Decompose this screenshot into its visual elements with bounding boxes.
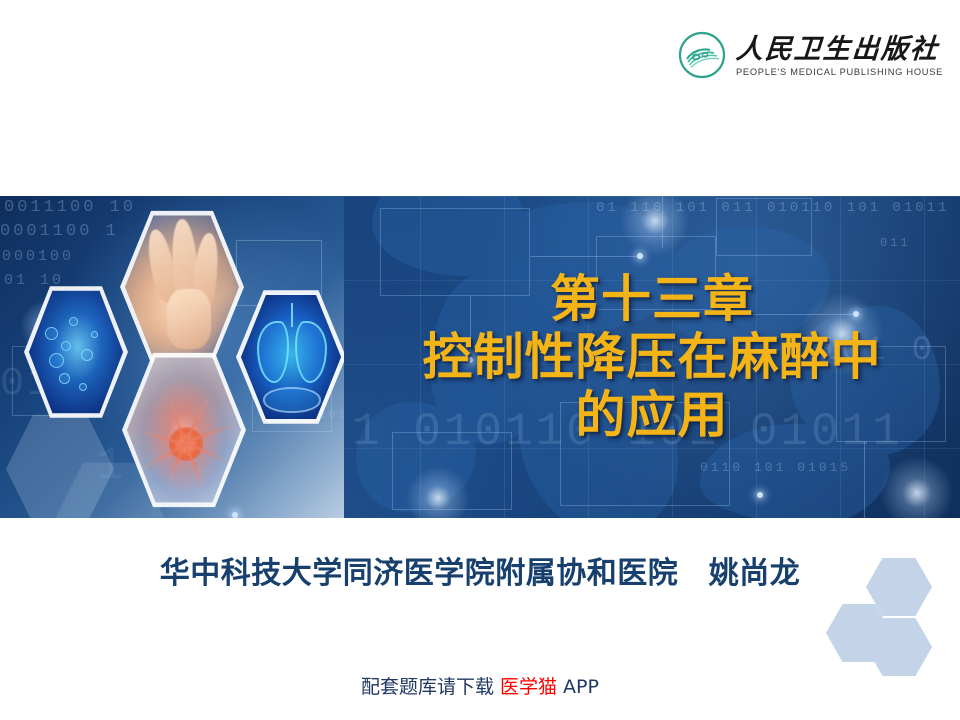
footer-app-name: 医学猫 bbox=[500, 676, 557, 698]
footer-text-before: 配套题库请下载 bbox=[361, 676, 494, 698]
publisher-name-en: PEOPLE'S MEDICAL PUBLISHING HOUSE bbox=[736, 67, 943, 77]
title-banner: 01 110 101 011 010110 101 01011 101 0 10… bbox=[0, 196, 960, 518]
chapter-number-title: 第十三章 bbox=[550, 271, 754, 327]
publisher-logo: 人民卫生出版社 PEOPLE'S MEDICAL PUBLISHING HOUS… bbox=[676, 24, 920, 86]
medical-image-collage: 0011100 10 0001100 1 000100 01 10 01 011… bbox=[0, 196, 344, 518]
slide-title-block: 第十三章 控制性降压在麻醉中 的应用 bbox=[344, 196, 960, 518]
hand-hexagon bbox=[120, 206, 244, 368]
decorative-hexagons bbox=[826, 556, 960, 668]
pmph-circular-emblem-icon bbox=[676, 29, 728, 81]
footer-note: 配套题库请下载医学猫APP bbox=[0, 672, 960, 699]
footer-text-after: APP bbox=[563, 676, 599, 698]
publisher-logo-text: 人民卫生出版社 PEOPLE'S MEDICAL PUBLISHING HOUS… bbox=[736, 33, 943, 77]
publisher-name-cn: 人民卫生出版社 bbox=[735, 35, 944, 64]
slide-title-line-2: 控制性降压在麻醉中 bbox=[423, 329, 882, 385]
author-affiliation-line: 华中科技大学同济医学院附属协和医院 姚尚龙 bbox=[0, 548, 960, 592]
slide-title-line-3: 的应用 bbox=[576, 387, 729, 443]
